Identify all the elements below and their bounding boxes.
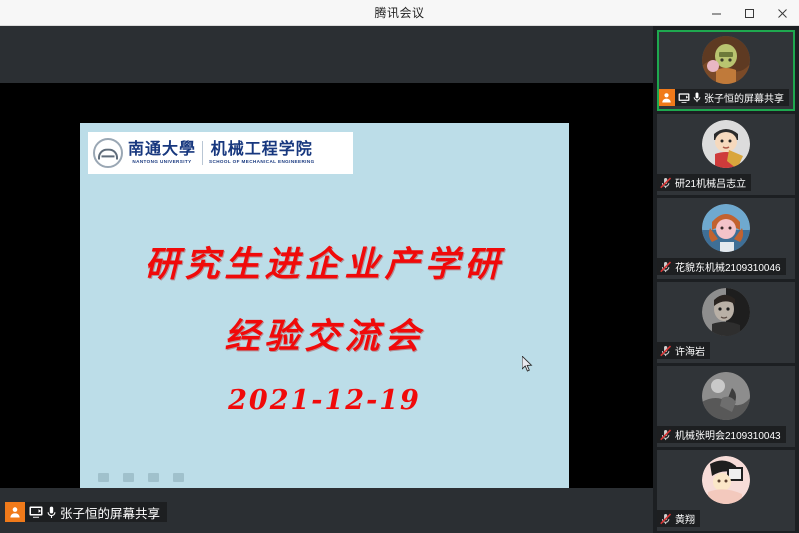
- microphone-muted-icon: [660, 345, 672, 357]
- participant-name: 机械张明会2109310043: [675, 427, 781, 442]
- participant-name: 许海岩: [675, 343, 705, 358]
- slide-menu-icon[interactable]: [148, 473, 159, 482]
- participant-rail[interactable]: 张子恒的屏幕共享: [653, 26, 799, 533]
- university-emblem-icon: [93, 138, 123, 168]
- avatar: [702, 372, 750, 420]
- microphone-icon: [47, 506, 56, 519]
- slide-next-icon[interactable]: [173, 473, 184, 482]
- presenter-status-bar: 张子恒的屏幕共享: [5, 502, 167, 522]
- microphone-muted-icon: [660, 177, 672, 189]
- participant-namebar: 机械张明会2109310043: [657, 426, 786, 443]
- school-name-cn: 机械工程学院: [209, 141, 315, 158]
- presenter-label: 张子恒的屏幕共享: [60, 503, 160, 522]
- microphone-muted-icon: [660, 261, 672, 273]
- screen-share-icon: [29, 506, 43, 518]
- participant-namebar: 黄翔: [657, 510, 700, 527]
- university-name-en: NANTONG UNIVERSITY: [128, 158, 196, 165]
- window-titlebar: 腾讯会议: [0, 0, 799, 26]
- avatar: [702, 456, 750, 504]
- slide-date: 2021-12-19: [80, 385, 569, 416]
- participant-name: 黄翔: [675, 511, 695, 526]
- close-icon: [777, 8, 788, 19]
- school-name-block: 机械工程学院 SCHOOL OF MECHANICAL ENGINEERING: [209, 141, 315, 165]
- maximize-icon: [744, 8, 755, 19]
- window-title: 腾讯会议: [374, 4, 424, 21]
- close-button[interactable]: [766, 0, 799, 26]
- pen-icon[interactable]: [98, 473, 109, 482]
- slide-title-line-2: 经验交流会: [80, 308, 569, 359]
- presentation-slide: 南通大學 NANTONG UNIVERSITY 机械工程学院 SCHOOL OF…: [80, 123, 569, 488]
- participant-name: 张子恒的屏幕共享: [704, 90, 784, 105]
- participant-tile-0[interactable]: 张子恒的屏幕共享: [657, 30, 795, 111]
- slide-title-line-1: 研究生进企业产学研: [80, 236, 569, 287]
- participant-tile-5[interactable]: 黄翔: [657, 450, 795, 531]
- participant-tile-4[interactable]: 机械张明会2109310043: [657, 366, 795, 447]
- avatar: [702, 120, 750, 168]
- university-logo: 南通大學 NANTONG UNIVERSITY 机械工程学院 SCHOOL OF…: [88, 132, 353, 174]
- participant-tile-1[interactable]: 研21机械吕志立: [657, 114, 795, 195]
- microphone-icon: [693, 92, 701, 103]
- participant-namebar: 许海岩: [657, 342, 710, 359]
- participant-namebar: 花貌东机械2109310046: [657, 258, 786, 275]
- participant-namebar: 研21机械吕志立: [657, 174, 751, 191]
- avatar: [702, 204, 750, 252]
- avatar: [702, 288, 750, 336]
- pointer-icon[interactable]: [123, 473, 134, 482]
- person-icon: [5, 502, 25, 522]
- screen-share-icon: [678, 93, 690, 103]
- person-icon: [658, 89, 675, 106]
- participant-name: 花貌东机械2109310046: [675, 259, 781, 274]
- minimize-button[interactable]: [700, 0, 733, 26]
- window-controls: [700, 0, 799, 26]
- shared-screen-stage[interactable]: 南通大學 NANTONG UNIVERSITY 机械工程学院 SCHOOL OF…: [0, 26, 653, 533]
- microphone-muted-icon: [660, 513, 672, 525]
- presenter-toolbar[interactable]: [98, 473, 184, 482]
- school-name-en: SCHOOL OF MECHANICAL ENGINEERING: [209, 158, 315, 165]
- participant-tile-3[interactable]: 许海岩: [657, 282, 795, 363]
- minimize-icon: [711, 8, 722, 19]
- participant-tile-2[interactable]: 花貌东机械2109310046: [657, 198, 795, 279]
- university-name-block: 南通大學 NANTONG UNIVERSITY: [123, 141, 203, 165]
- avatar: [702, 36, 750, 84]
- maximize-button[interactable]: [733, 0, 766, 26]
- university-name-cn: 南通大學: [128, 141, 196, 158]
- microphone-muted-icon: [660, 429, 672, 441]
- meeting-window-body: 南通大學 NANTONG UNIVERSITY 机械工程学院 SCHOOL OF…: [0, 26, 799, 533]
- participant-name: 研21机械吕志立: [675, 175, 746, 190]
- participant-namebar: 张子恒的屏幕共享: [658, 89, 789, 106]
